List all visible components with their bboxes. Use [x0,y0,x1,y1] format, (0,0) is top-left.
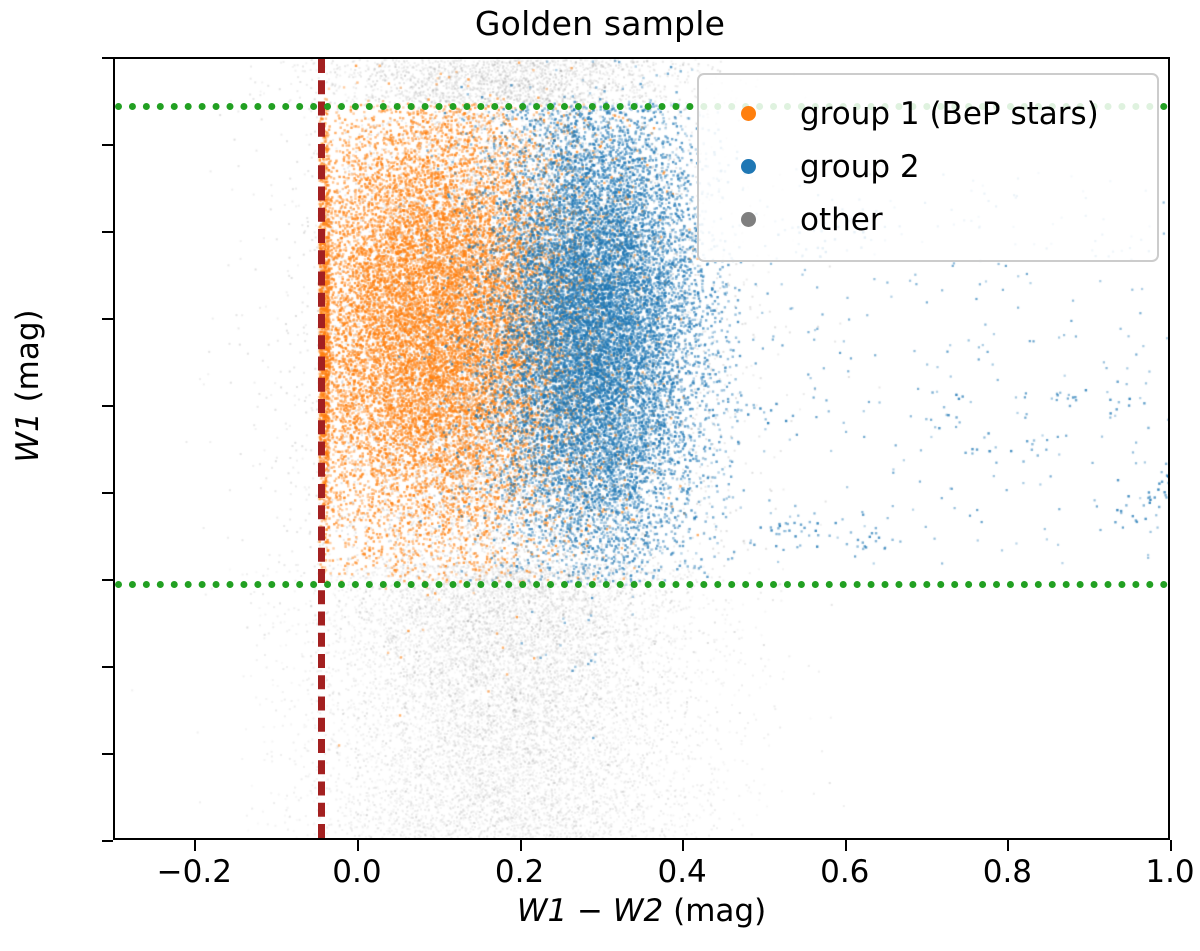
x-label-w2: W2 [613,893,663,929]
x-tick-label: 0.4 [657,854,706,890]
y-axis-label: W1 (mag) [10,246,46,526]
y-tick [102,405,113,407]
x-axis-label: W1 − W2 (mag) [113,893,1170,929]
x-tick [1170,840,1172,851]
y-tick [102,318,113,320]
x-tick [682,840,684,851]
y-tick [102,840,113,842]
x-tick [1007,840,1009,851]
legend-label-group-1: group 1 (BeP stars) [800,96,1099,132]
y-label-w1: W1 [10,412,46,462]
x-label-unit: (mag) [663,893,766,929]
x-tick [520,840,522,851]
chart-legend: group 1 (BeP stars) group 2 other [697,73,1159,262]
y-tick [102,57,113,59]
reference-line-color-cut [318,59,325,838]
y-tick [102,666,113,668]
chart-title: Golden sample [0,4,1200,43]
x-label-w1: W1 [517,893,567,929]
legend-label-other: other [800,202,883,238]
y-tick [102,492,113,494]
x-label-minus: − [567,893,613,929]
x-tick-label: 0.0 [332,854,381,890]
x-tick-label: 0.6 [820,854,869,890]
x-tick-label: 0.2 [495,854,544,890]
legend-marker-group-2 [741,159,756,174]
legend-marker-group-1 [741,106,756,121]
x-tick-label: 0.8 [983,854,1032,890]
y-tick [102,231,113,233]
y-label-unit: (mag) [10,309,46,412]
x-tick-label: 1.0 [1145,854,1194,890]
legend-marker-other [741,212,756,227]
y-tick [102,753,113,755]
x-tick-label: −0.2 [157,854,232,890]
legend-item-group-1[interactable]: group 1 (BeP stars) [713,87,1143,140]
legend-item-other[interactable]: other [713,193,1143,246]
legend-item-group-2[interactable]: group 2 [713,140,1143,193]
reference-line-bright-limit [115,581,1168,588]
x-tick [845,840,847,851]
x-tick [194,840,196,851]
y-tick [102,144,113,146]
x-tick [357,840,359,851]
legend-label-group-2: group 2 [800,149,920,185]
y-tick [102,579,113,581]
chart-figure: Golden sample 45678910111213 −0.20.00.20… [0,0,1200,951]
